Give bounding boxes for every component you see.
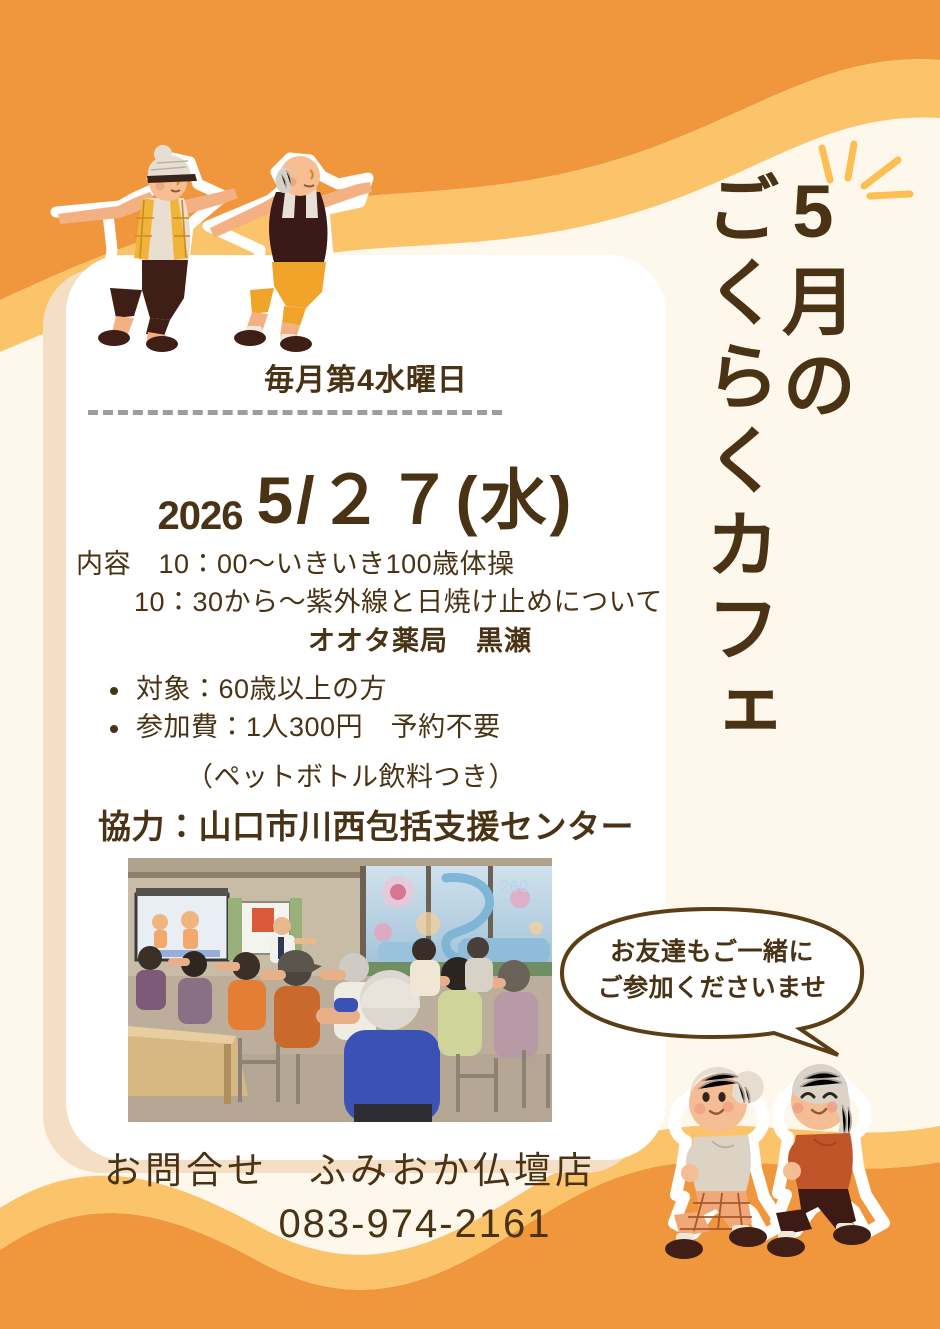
event-month-day: 5/２７(水): [256, 463, 574, 537]
list-item: 対象：60歳以上の方: [96, 670, 666, 708]
bullet-subnote: （ペットボトル飲料つき）: [66, 755, 666, 794]
partner-organization: 協力：山口市川西包括支援センター: [66, 800, 666, 848]
dashed-divider: [88, 410, 502, 415]
two-seniors-exercising-illustration: [38, 140, 378, 355]
two-seniors-walking-illustration: [660, 1045, 910, 1280]
event-year: 2026: [158, 494, 243, 538]
detail-line-1: 内容 10：00〜いきいき100歳体操: [76, 545, 666, 583]
poster: 毎月第4水曜日 20265/２７(水) 内容 10：00〜いきいき100歳体操 …: [0, 0, 940, 1329]
bubble-line-1: お友達もご一緒に: [610, 938, 814, 966]
detail-line-2: 10：30から〜紫外線と日焼け止めについて: [134, 583, 666, 621]
detail-line-3-presenter: オオタ薬局 黒瀬: [308, 622, 666, 660]
speech-bubble: お友達もご一緒に ご参加くださいませ: [552, 905, 872, 1060]
bubble-line-2: ご参加くださいませ: [598, 974, 827, 1002]
speech-bubble-text: お友達もご一緒に ご参加くださいませ: [552, 935, 872, 1006]
list-item: 参加費：1人300円 予約不要: [96, 708, 666, 746]
event-bullet-list: 対象：60歳以上の方 参加費：1人300円 予約不要: [96, 670, 666, 747]
poster-title-vertical: 5月の ごくらくカフェ: [690, 170, 850, 870]
event-details: 内容 10：00〜いきいき100歳体操 10：30から〜紫外線と日焼け止めについ…: [76, 545, 666, 660]
weekday-note: 毎月第4水曜日: [66, 355, 666, 399]
contact-phone: 083-974-2161: [0, 1202, 700, 1247]
event-date: 20265/２７(水): [66, 447, 666, 543]
title-column-left: ごくらくカフェ: [698, 170, 774, 870]
exercise-class-photo: 260: [128, 858, 552, 1122]
svg-text:260: 260: [500, 877, 528, 896]
contact-info: お問合せ ふみおか仏壇店 083-974-2161: [0, 1140, 700, 1247]
contact-shop: お問合せ ふみおか仏壇店: [0, 1140, 700, 1194]
title-column-right: 5月の: [774, 170, 850, 870]
